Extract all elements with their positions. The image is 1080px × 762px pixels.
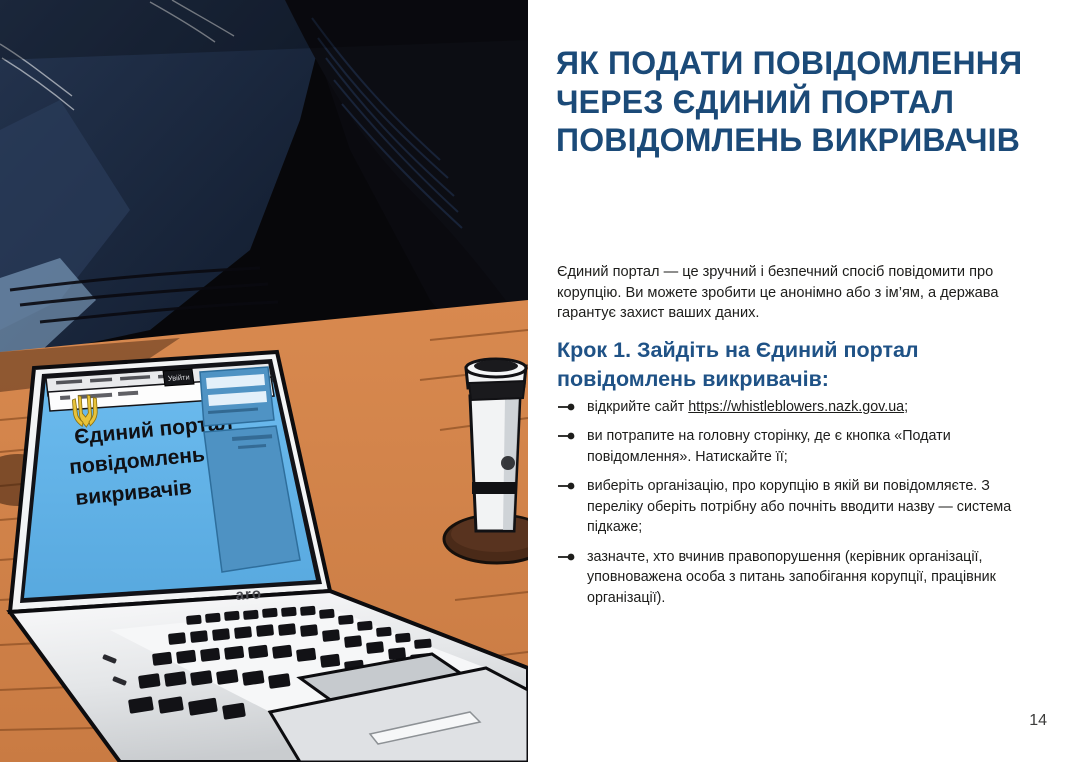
list-item: ви потрапите на головну сторінку, де є к…	[557, 426, 1025, 467]
list-item: зазначте, хто вчинив правопорушення (кер…	[557, 547, 1025, 608]
list-item: відкрийте сайт https://whistleblowers.na…	[557, 397, 1025, 417]
list-item-text-prefix: відкрийте сайт	[587, 399, 688, 415]
svg-text:Увійти: Увійти	[168, 372, 190, 382]
arrow-dot-bullet-icon	[557, 551, 579, 563]
list-item-text: зазначте, хто вчинив правопорушення (кер…	[587, 549, 996, 606]
laptop-screen: Єдиний портал повідомлень викривачів	[24, 363, 316, 598]
arrow-dot-bullet-icon	[557, 480, 579, 492]
content-panel: ЯК ПОДАТИ ПОВІДОМЛЕННЯ ЧЕРЕЗ ЄДИНИЙ ПОРТ…	[528, 0, 1080, 762]
page-title: ЯК ПОДАТИ ПОВІДОМЛЕННЯ ЧЕРЕЗ ЄДИНИЙ ПОРТ…	[556, 44, 1026, 160]
list-item: виберіть організацію, про корупцію в які…	[557, 476, 1025, 537]
brochure-page: Єдиний портал повідомлень викривачів	[0, 0, 1080, 762]
intro-paragraph: Єдиний портал — це зручний і безпечний с…	[557, 262, 1009, 324]
list-item-text-suffix: ;	[904, 399, 908, 415]
portal-login-button[interactable]: Увійти	[163, 369, 194, 386]
list-item-text: виберіть організацію, про корупцію в які…	[587, 478, 1011, 535]
portal-login-panel	[200, 367, 274, 426]
illustration-panel: Єдиний портал повідомлень викривачів	[0, 0, 528, 762]
laptop-desk-illustration: Єдиний портал повідомлень викривачів	[0, 0, 528, 762]
arrow-dot-bullet-icon	[557, 401, 579, 413]
page-number: 14	[1029, 712, 1047, 730]
laptop-brand-logo: aro	[235, 585, 262, 604]
list-item-text: ви потрапите на головну сторінку, де є к…	[587, 428, 951, 464]
steps-list: відкрийте сайт https://whistleblowers.na…	[557, 397, 1025, 608]
portal-link[interactable]: https://whistleblowers.nazk.gov.ua	[688, 399, 904, 415]
arrow-dot-bullet-icon	[557, 430, 579, 442]
step-heading: Крок 1. Зайдіть на Єдиний портал повідом…	[557, 336, 1017, 393]
